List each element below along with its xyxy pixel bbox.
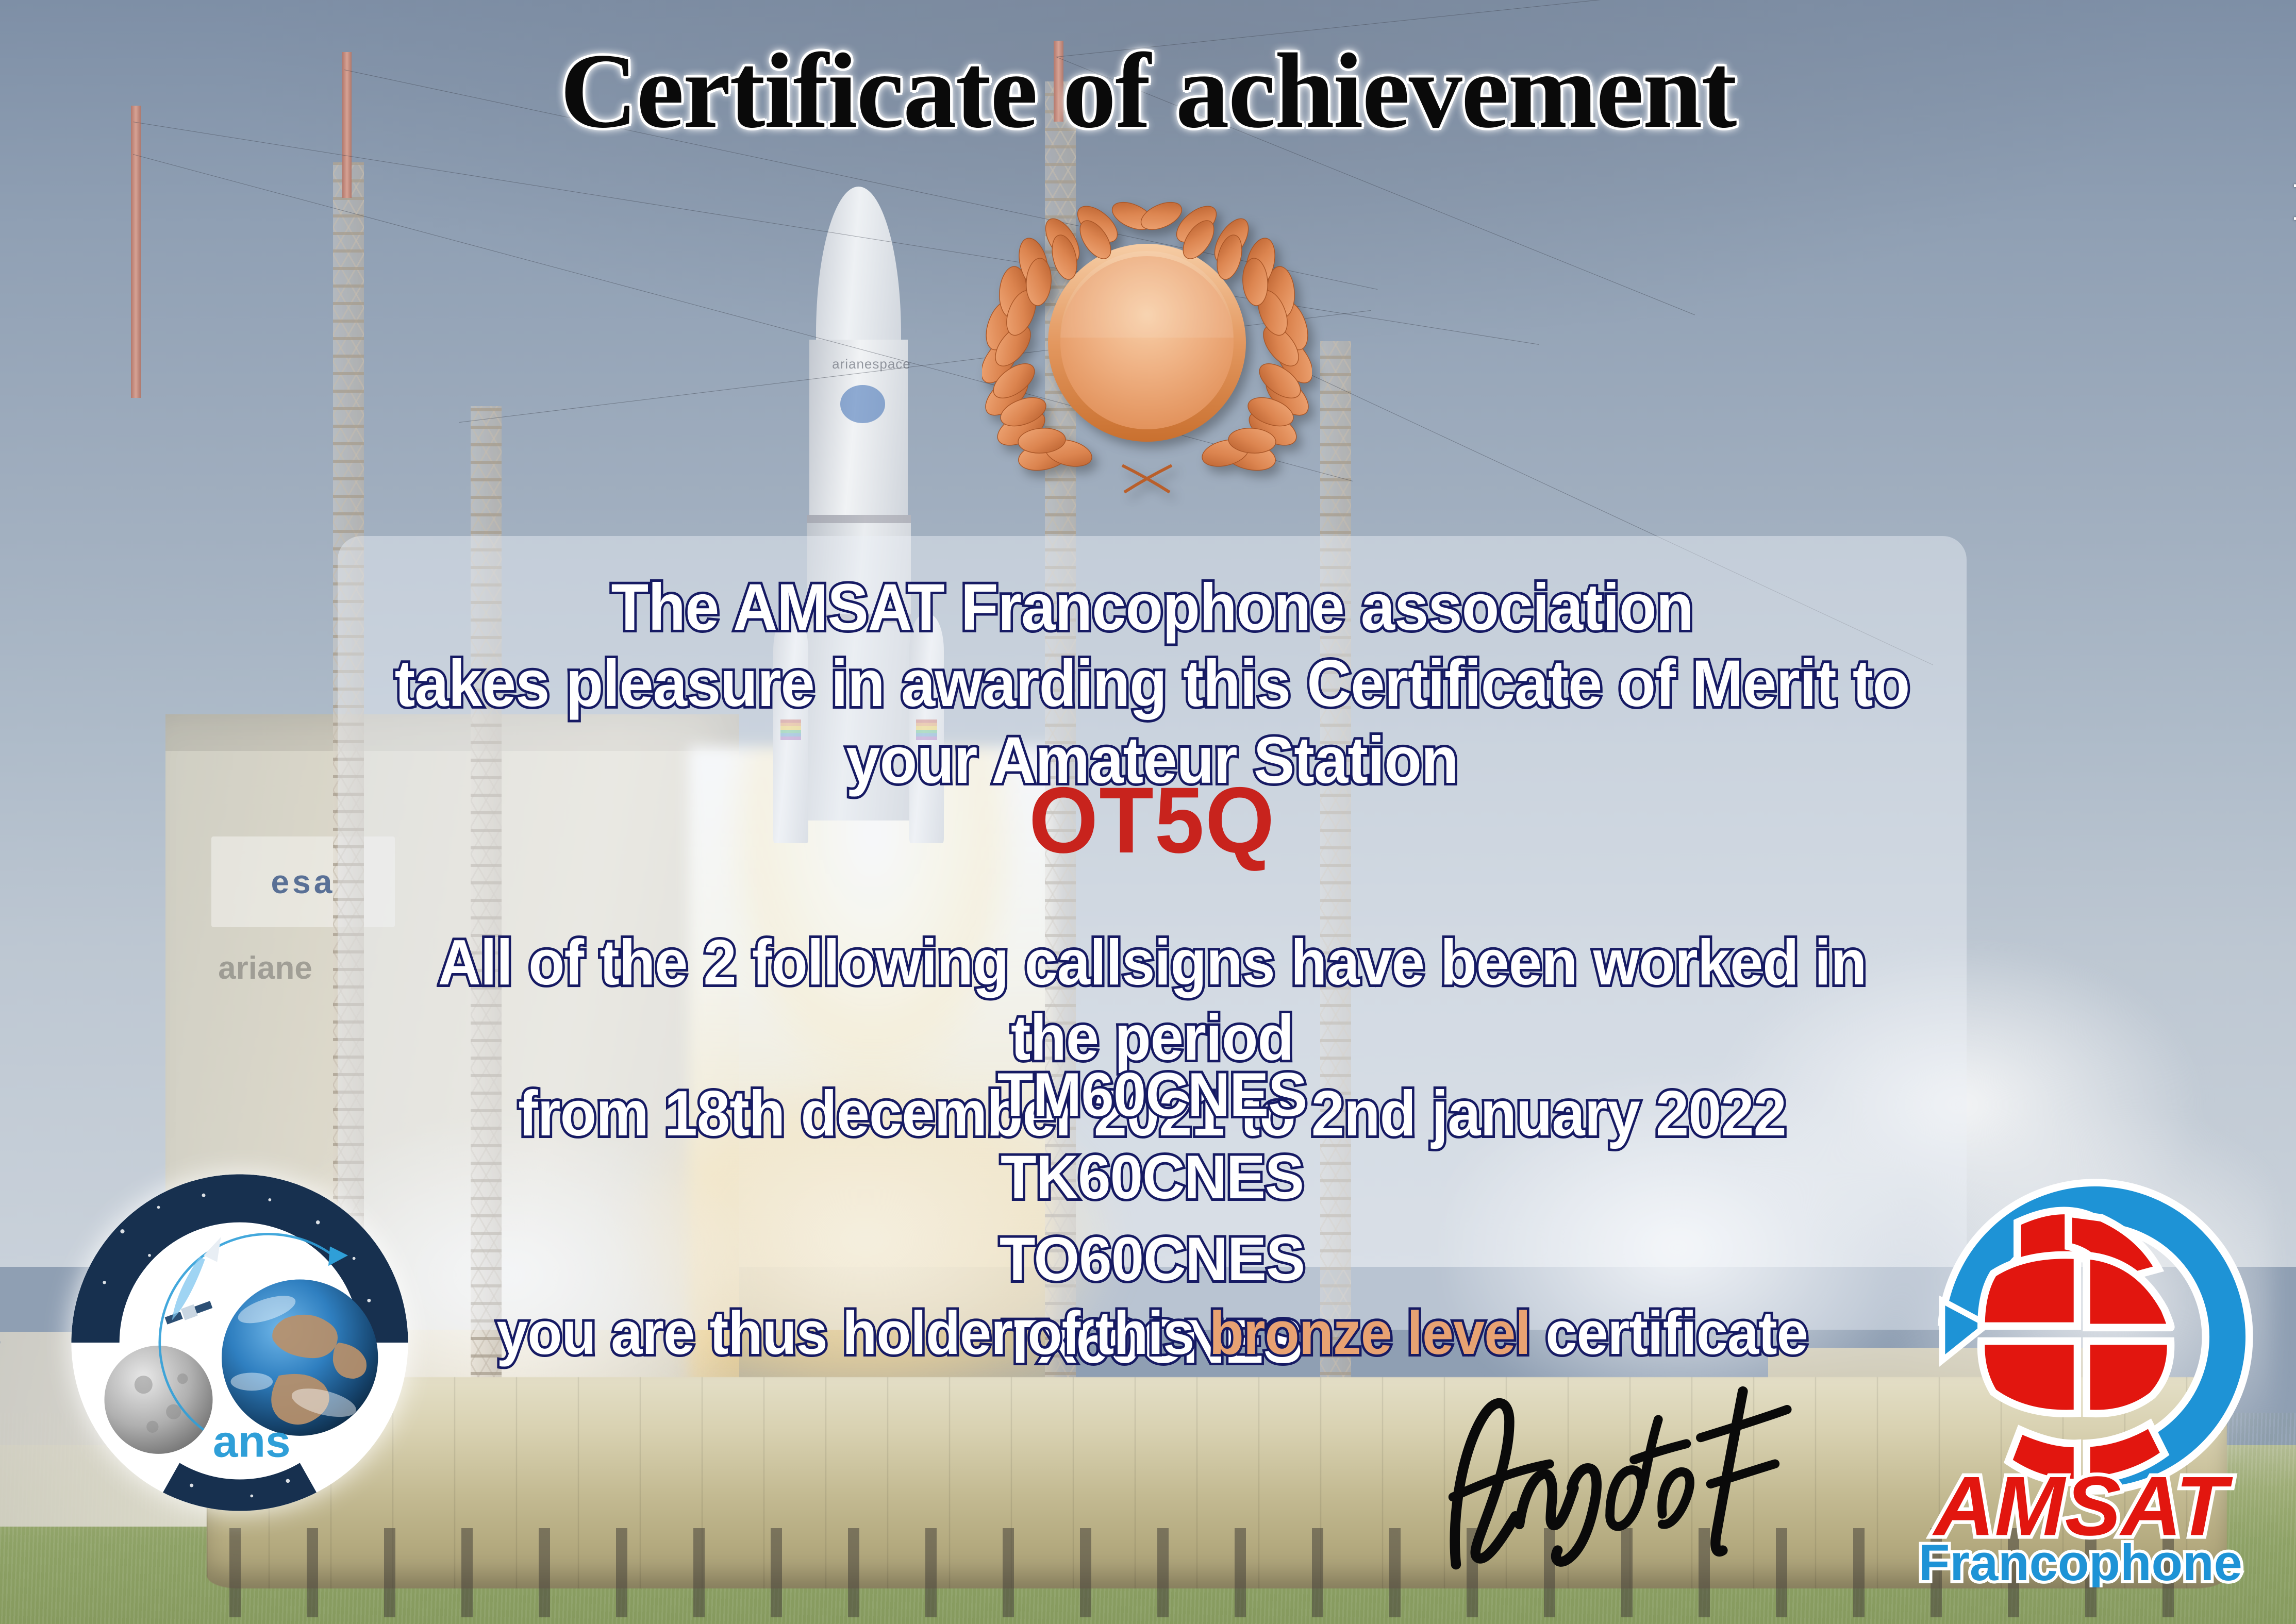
handwritten-signature-icon [1423, 1361, 1845, 1577]
cnes-ans-word: ans [213, 1416, 291, 1467]
period-line-1: All of the 2 following callsigns have be… [395, 925, 1910, 1076]
certificate-canvas: esa ariane arianespace [0, 0, 2296, 1624]
rocket-fairing [816, 187, 901, 347]
amsat-subtitle: Francophone [1919, 1534, 2242, 1587]
pipeline-supports [229, 1528, 2181, 1617]
list-item: TK60CNES [378, 1136, 1926, 1219]
status-badge-level: bronze level [1209, 1299, 1530, 1367]
rocket-band [807, 515, 910, 523]
rocket-label: arianespace [832, 356, 911, 372]
amsat-francophone-logo-icon: AMSAT Francophone [1897, 1134, 2258, 1587]
closing-prefix: you are thus holder of this [496, 1299, 1209, 1367]
award-statement-line-1: The AMSAT Francophone association [395, 570, 1910, 646]
closing-statement: you are thus holder of this bronze level… [395, 1299, 1910, 1369]
award-statement: The AMSAT Francophone association takes … [395, 570, 1910, 799]
list-item: TO60CNES [378, 1218, 1926, 1301]
award-statement-line-2: takes pleasure in awarding this Certific… [395, 646, 1910, 722]
cnes-60-ans-logo-icon: ans [59, 1162, 420, 1523]
antenna-mast [131, 106, 141, 398]
recipient-callsign: OT5Q [378, 773, 1926, 867]
page-title: Certificate of achievement [0, 37, 2296, 144]
generator-credit: 2022 - Certificate Generator by Christia… [0, 1113, 1, 1617]
closing-suffix: certificate [1530, 1299, 1808, 1367]
list-item: TM60CNES [378, 1054, 1926, 1136]
photo-credit: ©2021 ESA-CNES-ARIANESPACE / Optique Vid… [2293, 0, 2296, 541]
bronze-laurel-wreath-icon [982, 183, 1312, 518]
